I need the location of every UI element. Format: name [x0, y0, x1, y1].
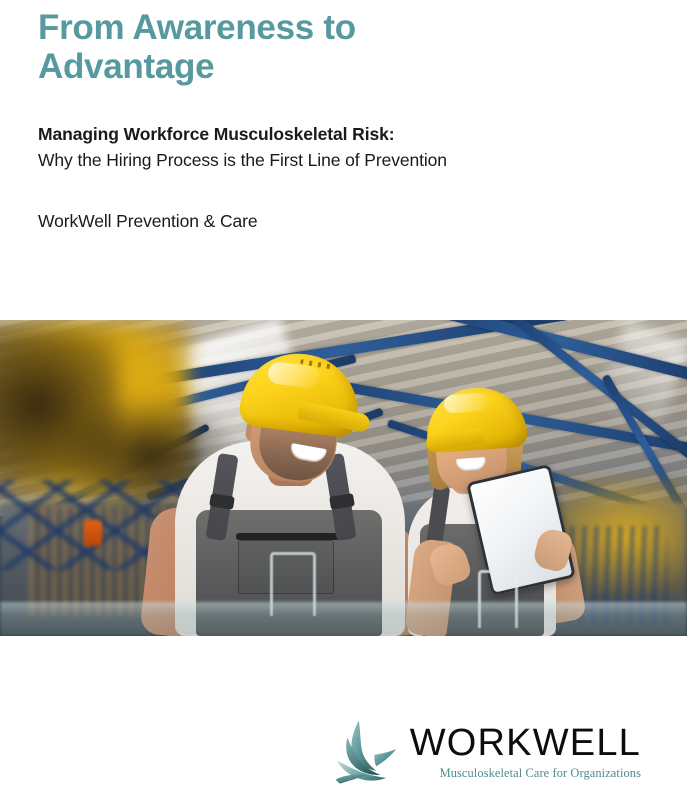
- logo-text-block: WORKWELL Musculoskeletal Care for Organi…: [410, 724, 641, 781]
- bird-wing-icon: [330, 716, 402, 788]
- page-title: From Awareness to Advantage: [38, 8, 398, 86]
- organization-name: WorkWell Prevention & Care: [38, 211, 638, 232]
- logo-wordmark: WORKWELL: [410, 724, 641, 762]
- subtitle-secondary: Why the Hiring Process is the First Line…: [38, 148, 638, 173]
- hard-hat-highlight: [443, 392, 488, 413]
- cover-header: From Awareness to Advantage Managing Wor…: [38, 8, 638, 232]
- cover-page: From Awareness to Advantage Managing Wor…: [0, 0, 687, 810]
- cover-photo: [0, 320, 687, 636]
- subtitle-block: Managing Workforce Musculoskeletal Risk:…: [38, 122, 638, 173]
- glass-counter-edge: [0, 602, 687, 636]
- safety-cone: [84, 520, 102, 546]
- subtitle-primary: Managing Workforce Musculoskeletal Risk:: [38, 122, 638, 147]
- logo-tagline: Musculoskeletal Care for Organizations: [440, 766, 641, 781]
- workwell-logo: WORKWELL Musculoskeletal Care for Organi…: [330, 716, 641, 788]
- male-worker-overall-zipper: [236, 533, 340, 540]
- photo-stage: [0, 320, 687, 636]
